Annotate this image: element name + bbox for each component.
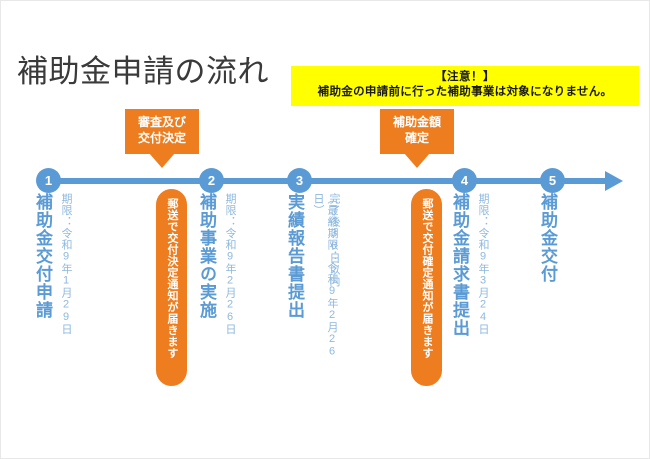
timeline-axis — [48, 178, 611, 184]
step-deadline-4: 期限：令和9年3月24日 — [476, 193, 490, 335]
step-circle-1[interactable]: 1 — [36, 168, 61, 193]
notice-body: 補助金の申請前に行った補助事業は対象になりません。 — [297, 85, 633, 100]
step-deadline-3-line-2: （最終期限：令和9年2月26日） — [311, 193, 339, 373]
callout-2-line-1: 補助金額 — [388, 114, 446, 130]
step-circle-4[interactable]: 4 — [452, 168, 477, 193]
step-deadline-1: 期限：令和9年1月29日 — [59, 193, 73, 335]
step-circle-2[interactable]: 2 — [199, 168, 224, 193]
pill-mail-confirmation-notice: 郵送で交付確定通知が届きます — [411, 189, 442, 386]
callout-down-arrow-icon — [404, 153, 430, 168]
step-label-4: 補助金請求書提出 — [450, 193, 469, 337]
step-circle-3[interactable]: 3 — [287, 168, 312, 193]
pill-1-text: 郵送で交付決定通知が届きます — [156, 198, 187, 359]
step-circle-5[interactable]: 5 — [540, 168, 565, 193]
callout-down-arrow-icon — [149, 153, 175, 168]
callout-1-line-1: 審査及び — [133, 114, 191, 130]
step-label-2: 補助事業の実施 — [197, 193, 216, 319]
slide-canvas: 補助金申請の流れ 【注意！】 補助金の申請前に行った補助事業は対象になりません。… — [0, 0, 650, 459]
step-label-1: 補助金交付申請 — [33, 193, 52, 319]
pill-2-text: 郵送で交付確定通知が届きます — [411, 198, 442, 359]
step-label-5: 補助金交付 — [538, 193, 557, 283]
callout-amount-confirmed: 補助金額 確定 — [380, 109, 454, 154]
page-title: 補助金申請の流れ — [17, 53, 269, 91]
callout-1-line-2: 交付決定 — [133, 130, 191, 146]
notice-heading: 【注意！】 — [297, 70, 633, 85]
callout-2-line-2: 確定 — [388, 130, 446, 146]
notice-box: 【注意！】 補助金の申請前に行った補助事業は対象になりません。 — [291, 66, 639, 106]
pill-mail-decision-notice: 郵送で交付決定通知が届きます — [156, 189, 187, 386]
timeline-arrow-icon — [605, 171, 623, 191]
callout-review-decision: 審査及び 交付決定 — [125, 109, 199, 154]
step-label-3: 実績報告書提出 — [285, 193, 304, 319]
step-deadline-2: 期限：令和9年2月26日 — [223, 193, 237, 335]
